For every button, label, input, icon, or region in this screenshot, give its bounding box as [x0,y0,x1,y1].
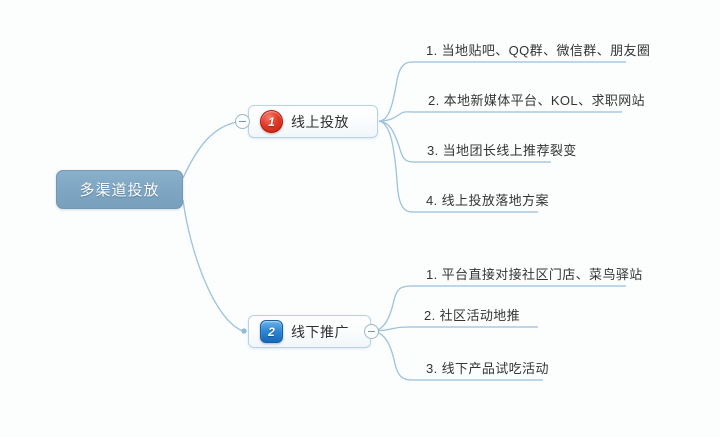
root-node[interactable]: 多渠道投放 [56,170,183,209]
branch-node-1-label: 线上投放 [291,112,349,132]
leaf-node-label: 1. 当地贴吧、QQ群、微信群、朋友圈 [426,40,650,59]
branch-node-1[interactable]: 1 线上投放 [248,105,378,138]
branch-node-2-label: 线下推广 [291,322,349,342]
leaf-node-label: 2. 本地新媒体平台、KOL、求职网站 [428,90,645,109]
leaf-node[interactable]: 3. 线下产品试吃活动 [412,354,549,380]
leaf-node-label: 4. 线上投放落地方案 [426,190,549,209]
connector-dot-branch-2 [241,328,246,333]
connector-branch-2-child-1 [372,286,412,331]
leaf-node-label: 1. 平台直接对接社区门店、菜鸟驿站 [426,264,643,283]
mindmap-canvas: 多渠道投放 1 线上投放 2 线下推广 1. 当地贴吧、QQ群、微信群、朋友圈 … [0,0,720,437]
connector-root-to-branch-1 [183,121,243,178]
leaf-node-label: 3. 线下产品试吃活动 [426,358,549,377]
branch-node-2[interactable]: 2 线下推广 [248,315,371,348]
collapse-toggle-branch-2-icon[interactable] [364,324,379,339]
connector-branch-1-child-2 [379,112,414,121]
badge-number-1-icon: 1 [260,110,283,133]
connector-branch-1-child-4 [379,121,412,212]
root-node-label: 多渠道投放 [79,179,159,200]
leaf-node[interactable]: 3. 当地团长线上推荐裂变 [413,136,577,162]
leaf-node[interactable]: 1. 当地贴吧、QQ群、微信群、朋友圈 [412,36,650,62]
collapse-toggle-branch-1-icon[interactable] [235,114,250,129]
leaf-node[interactable]: 2. 本地新媒体平台、KOL、求职网站 [414,86,645,112]
leaf-node-label: 3. 当地团长线上推荐裂变 [427,140,577,159]
connector-branch-1-child-1 [379,62,412,121]
connector-root-to-branch-2 [183,200,243,331]
connector-branch-2-child-3 [372,331,412,380]
badge-number-2-icon: 2 [260,320,283,343]
connector-branch-1-child-3 [379,121,413,162]
connector-lines [0,0,720,437]
leaf-node[interactable]: 1. 平台直接对接社区门店、菜鸟驿站 [412,260,643,286]
leaf-node[interactable]: 2. 社区活动地推 [410,301,520,327]
leaf-node-label: 2. 社区活动地推 [424,305,520,324]
leaf-node[interactable]: 4. 线上投放落地方案 [412,186,549,212]
